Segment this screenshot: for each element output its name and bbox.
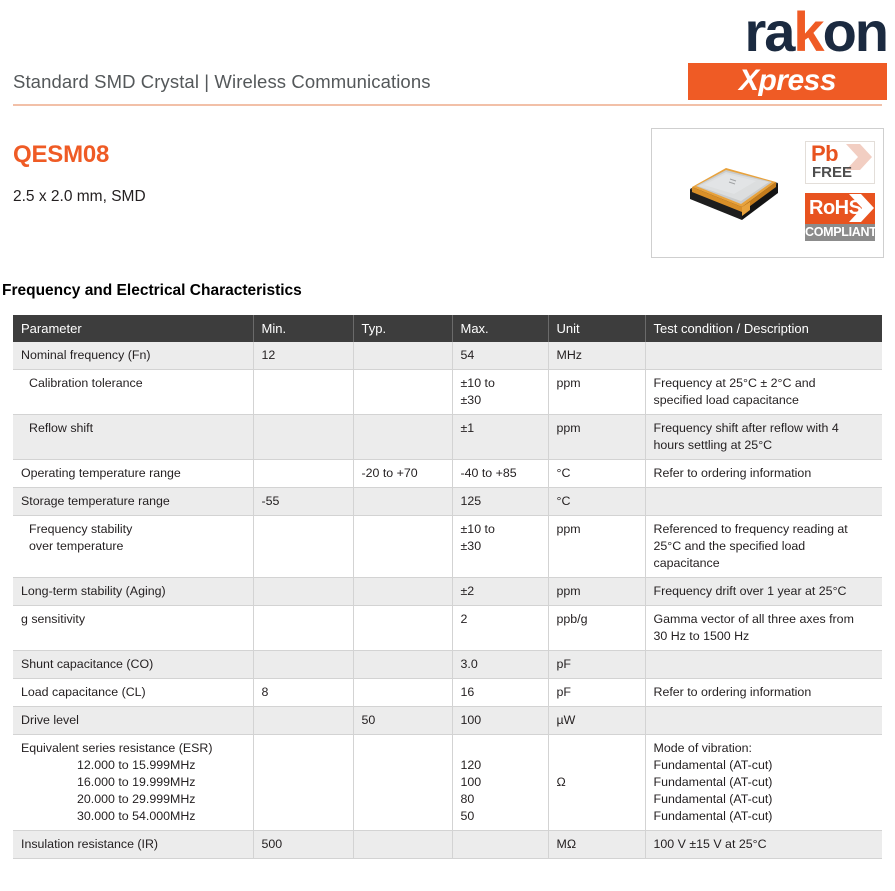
cell-test-condition: [645, 488, 882, 516]
rakon-logo: rakon Xpress: [672, 6, 887, 100]
cell-unit: °C: [548, 488, 645, 516]
table-row: Insulation resistance (IR)500MΩ100 V ±15…: [13, 831, 882, 859]
cell-unit: ppb/g: [548, 606, 645, 651]
cell-max: 54: [452, 342, 548, 370]
cell-parameter: Reflow shift: [13, 415, 253, 460]
cell-max: 100: [452, 707, 548, 735]
cell-parameter: Frequency stability over temperature: [13, 516, 253, 578]
cell-min: 500: [253, 831, 353, 859]
logo-wordmark: rakon: [672, 4, 887, 60]
cell-parameter-sub: 20.000 to 29.999MHz: [21, 791, 245, 808]
product-image-box: Pb FREE RoHS COMPLIANT: [651, 128, 884, 258]
cell-max: ±2: [452, 578, 548, 606]
cell-min: [253, 415, 353, 460]
column-header-max: Max.: [452, 315, 548, 342]
logo-word-post: on: [823, 0, 887, 63]
cell-unit: ppm: [548, 578, 645, 606]
cell-typ: [353, 342, 452, 370]
cell-unit: ppm: [548, 516, 645, 578]
logo-word-k: k: [793, 0, 822, 63]
cell-unit: MΩ: [548, 831, 645, 859]
cell-unit: °C: [548, 460, 645, 488]
cell-parameter-sub: 16.000 to 19.999MHz: [21, 774, 245, 791]
cell-parameter: Load capacitance (CL): [13, 679, 253, 707]
cell-unit: pF: [548, 679, 645, 707]
page-title: Standard SMD Crystal | Wireless Communic…: [13, 73, 431, 92]
column-header-test-condition: Test condition / Description: [645, 315, 882, 342]
table-row: Long-term stability (Aging)±2ppmFrequenc…: [13, 578, 882, 606]
cell-typ: [353, 370, 452, 415]
product-name: QESM08: [13, 143, 109, 167]
cell-typ: [353, 735, 452, 831]
cell-typ: [353, 679, 452, 707]
cell-typ: [353, 578, 452, 606]
table-row: Calibration tolerance±10 to ±30ppmFreque…: [13, 370, 882, 415]
cell-parameter: Nominal frequency (Fn): [13, 342, 253, 370]
cell-typ: [353, 831, 452, 859]
cell-parameter: Storage temperature range: [13, 488, 253, 516]
cell-typ: [353, 651, 452, 679]
cell-max: 125: [452, 488, 548, 516]
cell-typ: [353, 606, 452, 651]
pb-free-badge: Pb FREE: [805, 141, 875, 184]
cell-max: ±10 to ±30: [452, 516, 548, 578]
smd-crystal-image: [686, 161, 782, 223]
cell-typ: [353, 415, 452, 460]
cell-parameter: Equivalent series resistance (ESR)12.000…: [13, 735, 253, 831]
cell-min: 12: [253, 342, 353, 370]
cell-unit: Ω: [548, 735, 645, 831]
cell-parameter-sub: 12.000 to 15.999MHz: [21, 757, 245, 774]
cell-test-condition: Referenced to frequency reading at 25°C …: [645, 516, 882, 578]
cell-min: [253, 606, 353, 651]
cell-test-condition: Frequency drift over 1 year at 25°C: [645, 578, 882, 606]
cell-min: [253, 516, 353, 578]
table-row: Shunt capacitance (CO)3.0pF: [13, 651, 882, 679]
cell-min: [253, 578, 353, 606]
cell-max: [452, 831, 548, 859]
cell-parameter: Long-term stability (Aging): [13, 578, 253, 606]
rohs-label: RoHS: [809, 194, 861, 222]
product-subtitle: 2.5 x 2.0 mm, SMD: [13, 189, 146, 205]
cell-test-condition: Frequency at 25°C ± 2°C and specified lo…: [645, 370, 882, 415]
table-row: Equivalent series resistance (ESR)12.000…: [13, 735, 882, 831]
cell-min: [253, 735, 353, 831]
page-header: Standard SMD Crystal | Wireless Communic…: [0, 0, 895, 108]
column-header-typ: Typ.: [353, 315, 452, 342]
cell-parameter: Insulation resistance (IR): [13, 831, 253, 859]
cell-max: -40 to +85: [452, 460, 548, 488]
section-heading: Frequency and Electrical Characteristics: [2, 283, 302, 299]
cell-parameter: Shunt capacitance (CO): [13, 651, 253, 679]
cell-unit: ppm: [548, 370, 645, 415]
cell-max: ±10 to ±30: [452, 370, 548, 415]
cell-parameter: Operating temperature range: [13, 460, 253, 488]
logo-xpress-text: Xpress: [688, 63, 887, 100]
table-row: Frequency stability over temperature±10 …: [13, 516, 882, 578]
cell-unit: pF: [548, 651, 645, 679]
table-row: Operating temperature range-20 to +70-40…: [13, 460, 882, 488]
rohs-compliant-badge: RoHS COMPLIANT: [805, 193, 875, 241]
table-row: Load capacitance (CL)816pFRefer to order…: [13, 679, 882, 707]
cell-min: 8: [253, 679, 353, 707]
cell-max: ±1: [452, 415, 548, 460]
table-row: Storage temperature range-55125°C: [13, 488, 882, 516]
cell-min: [253, 651, 353, 679]
logo-word-pre: ra: [744, 0, 793, 63]
cell-test-condition: Frequency shift after reflow with 4 hour…: [645, 415, 882, 460]
cell-typ: [353, 516, 452, 578]
cell-min: [253, 370, 353, 415]
cell-test-condition: [645, 342, 882, 370]
table-row: Nominal frequency (Fn)1254MHz: [13, 342, 882, 370]
table-row: Reflow shift±1ppmFrequency shift after r…: [13, 415, 882, 460]
cell-parameter: Calibration tolerance: [13, 370, 253, 415]
column-header-parameter: Parameter: [13, 315, 253, 342]
cell-test-condition: 100 V ±15 V at 25°C: [645, 831, 882, 859]
cell-parameter: g sensitivity: [13, 606, 253, 651]
table-row: Drive level50100µW: [13, 707, 882, 735]
pb-label: Pb: [811, 142, 838, 166]
cell-test-condition: Mode of vibration: Fundamental (AT-cut) …: [645, 735, 882, 831]
cell-max: 3.0: [452, 651, 548, 679]
cell-max: 16: [452, 679, 548, 707]
compliant-label: COMPLIANT: [805, 224, 875, 241]
frequency-electrical-characteristics-table: Parameter Min. Typ. Max. Unit Test condi…: [13, 315, 882, 859]
cell-parameter-sub: 30.000 to 54.000MHz: [21, 808, 245, 825]
cell-max: 2: [452, 606, 548, 651]
cell-min: [253, 460, 353, 488]
cell-typ: [353, 488, 452, 516]
column-header-unit: Unit: [548, 315, 645, 342]
cell-max: 120 100 80 50: [452, 735, 548, 831]
cell-typ: -20 to +70: [353, 460, 452, 488]
cell-unit: µW: [548, 707, 645, 735]
free-label: FREE: [812, 164, 852, 181]
table-row: g sensitivity2ppb/gGamma vector of all t…: [13, 606, 882, 651]
cell-min: -55: [253, 488, 353, 516]
cell-test-condition: [645, 651, 882, 679]
cell-test-condition: Refer to ordering information: [645, 679, 882, 707]
column-header-min: Min.: [253, 315, 353, 342]
cell-typ: 50: [353, 707, 452, 735]
cell-test-condition: [645, 707, 882, 735]
cell-min: [253, 707, 353, 735]
cell-parameter: Drive level: [13, 707, 253, 735]
cell-test-condition: Refer to ordering information: [645, 460, 882, 488]
table-body: Nominal frequency (Fn)1254MHzCalibration…: [13, 342, 882, 859]
cell-unit: MHz: [548, 342, 645, 370]
cell-unit: ppm: [548, 415, 645, 460]
cell-test-condition: Gamma vector of all three axes from 30 H…: [645, 606, 882, 651]
header-divider: [13, 104, 882, 106]
table-header-row: Parameter Min. Typ. Max. Unit Test condi…: [13, 315, 882, 342]
